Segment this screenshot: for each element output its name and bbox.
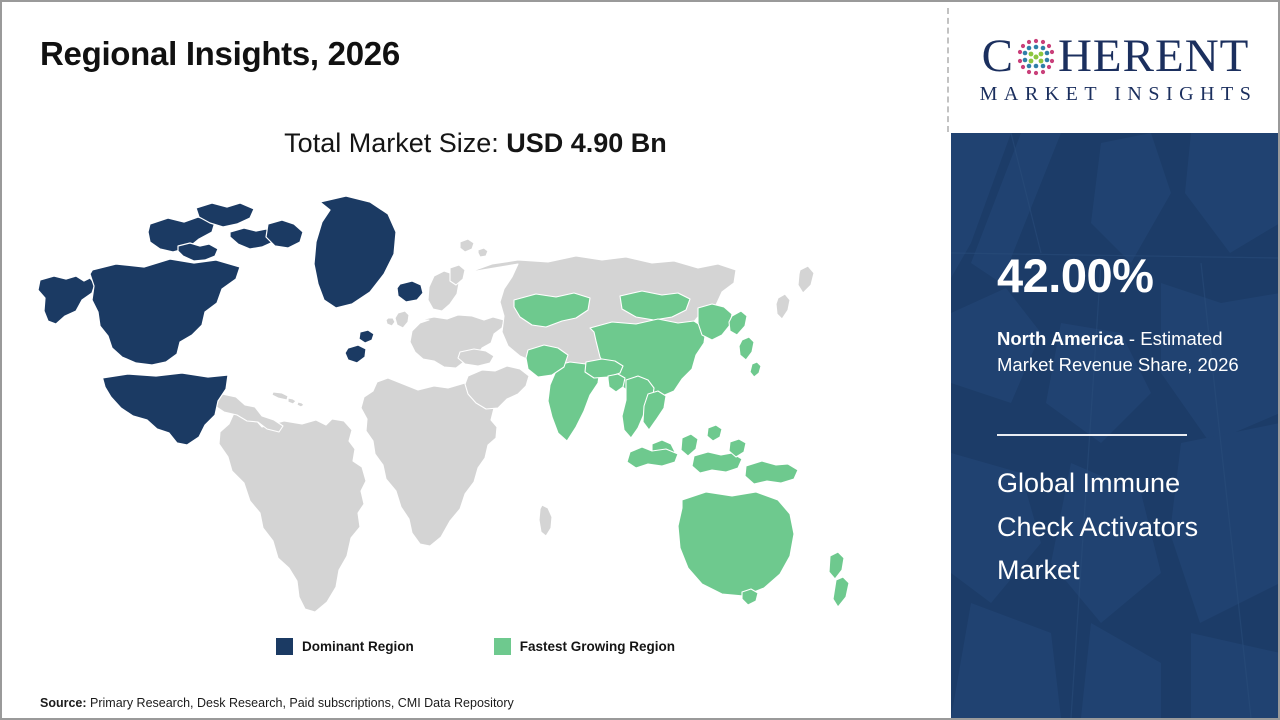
map-panel: Regional Insights, 2026 Total Market Siz… [2,2,949,718]
vertical-dashed-divider [947,8,949,132]
stat-panel: 42.00% North America - Estimated Market … [951,133,1280,718]
coherent-market-insights-logo: C [966,29,1266,106]
regional-insights-infographic: Regional Insights, 2026 Total Market Siz… [0,0,1280,720]
source-note: Source: Primary Research, Desk Research,… [40,696,514,710]
total-market-size: Total Market Size: USD 4.90 Bn [2,128,949,159]
legend-item-fastest-growing: Fastest Growing Region [494,638,675,655]
legend-swatch-fastest-growing [494,638,511,655]
world-map-svg [30,180,930,632]
legend-item-dominant: Dominant Region [276,638,414,655]
source-text: Primary Research, Desk Research, Paid su… [87,696,514,710]
globe-dots-icon [1015,36,1057,78]
market-size-value: USD 4.90 Bn [506,128,667,158]
world-map-container [30,180,930,632]
page-title: Regional Insights, 2026 [40,35,400,73]
panel-divider-line [997,434,1187,436]
legend-swatch-dominant [276,638,293,655]
legend-label-fastest-growing: Fastest Growing Region [520,639,675,654]
stat-panel-content: 42.00% North America - Estimated Market … [997,133,1259,718]
logo-wordmark: C [982,33,1250,80]
stat-caption: North America - Estimated Market Revenue… [997,326,1263,379]
logo-subtext: MARKET INSIGHTS [974,83,1258,106]
market-name: Global Immune Check Activators Market [997,462,1247,593]
legend-label-dominant: Dominant Region [302,639,414,654]
source-label: Source: [40,696,87,710]
logo-wordmark-part1: C [982,33,1014,80]
stat-percent-value: 42.00% [997,252,1153,299]
brand-header: C [951,2,1280,133]
logo-wordmark-part2: HERENT [1058,33,1249,80]
market-size-label: Total Market Size: [284,128,506,158]
map-legend: Dominant Region Fastest Growing Region [2,638,949,655]
stat-caption-region: North America [997,328,1124,349]
